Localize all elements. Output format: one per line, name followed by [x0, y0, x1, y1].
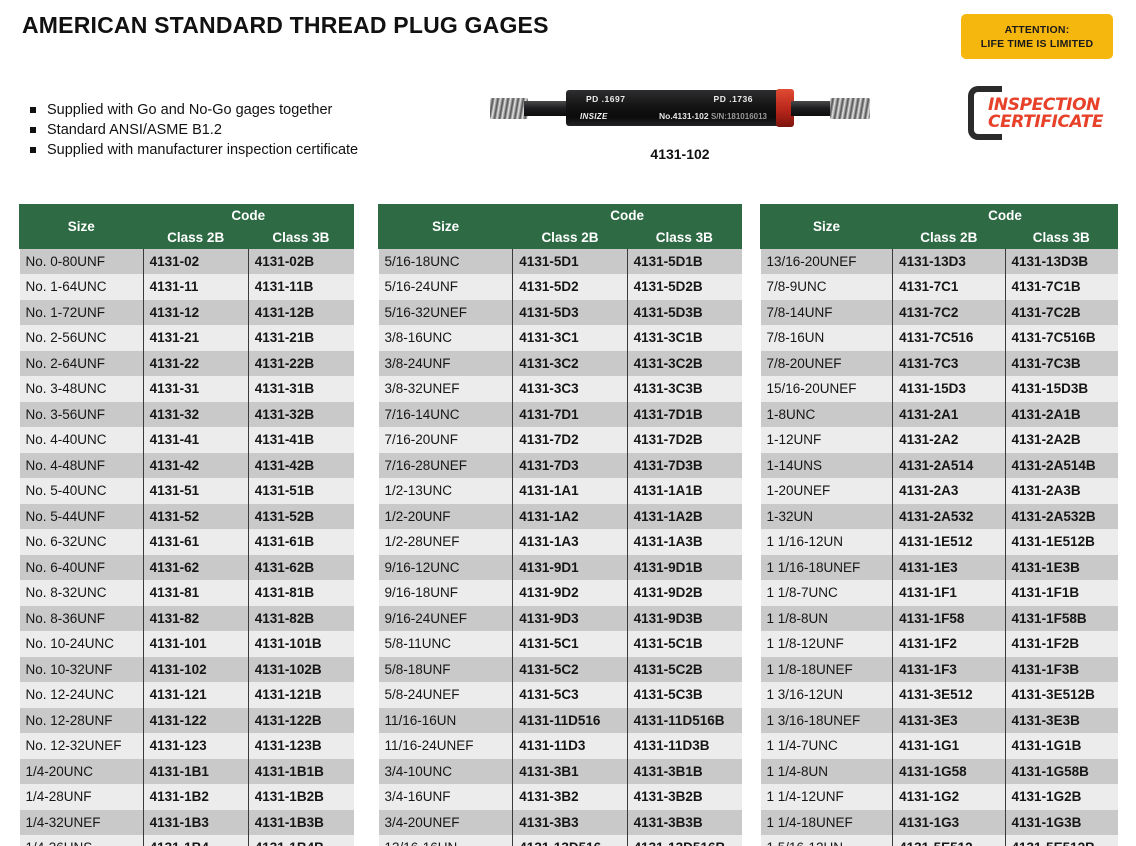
page-title: AMERICAN STANDARD THREAD PLUG GAGES [22, 12, 549, 39]
certificate-logo-text: INSPECTION CERTIFICATE [988, 97, 1103, 131]
cell-class-2b: 4131-1A3 [513, 529, 627, 555]
cell-size: No. 2-56UNC [20, 325, 144, 351]
table-row: 1-14UNS4131-2A5144131-2A514B [761, 453, 1118, 479]
cell-size: No. 3-56UNF [20, 402, 144, 428]
cell-class-3b: 4131-82B [248, 606, 353, 632]
column-header-class-3b: Class 3B [1005, 227, 1117, 249]
table-row: 1/2-13UNC4131-1A14131-1A1B [379, 478, 742, 504]
cell-class-3b: 4131-5C2B [627, 657, 741, 683]
table-row: 13/16-20UNEF4131-13D34131-13D3B [761, 249, 1118, 275]
gage-body: PD .1697 PD .1736 INSIZE No.4131-102 S/N… [566, 90, 781, 126]
table-row: 1/2-20UNF4131-1A24131-1A2B [379, 504, 742, 530]
cell-class-2b: 4131-9D3 [513, 606, 627, 632]
cell-size: 5/16-18UNC [379, 249, 513, 275]
cell-size: No. 12-24UNC [20, 682, 144, 708]
table-row: 9/16-24UNEF4131-9D34131-9D3B [379, 606, 742, 632]
table-row: 7/8-9UNC4131-7C14131-7C1B [761, 274, 1118, 300]
thread-right-icon [830, 98, 870, 119]
cell-class-3b: 4131-2A3B [1005, 478, 1117, 504]
column-header-class-2b: Class 2B [143, 227, 248, 249]
product-caption: 4131-102 [480, 146, 880, 162]
cell-class-3b: 4131-7C3B [1005, 351, 1117, 377]
column-header-size: Size [761, 205, 893, 249]
cell-class-3b: 4131-1A2B [627, 504, 741, 530]
cell-size: 3/8-16UNC [379, 325, 513, 351]
table-row: No. 10-24UNC4131-1014131-101B [20, 631, 354, 657]
cell-size: 1 1/8-12UNF [761, 631, 893, 657]
column-header-code: Code [513, 205, 742, 227]
cell-class-3b: 4131-9D1B [627, 555, 741, 581]
cell-class-2b: 4131-2A3 [893, 478, 1005, 504]
cell-class-2b: 4131-5C3 [513, 682, 627, 708]
cell-class-3b: 4131-3E512B [1005, 682, 1117, 708]
cell-class-3b: 4131-2A2B [1005, 427, 1117, 453]
cell-class-2b: 4131-15D3 [893, 376, 1005, 402]
cell-size: 1-14UNS [761, 453, 893, 479]
table-row: No. 12-24UNC4131-1214131-121B [20, 682, 354, 708]
cell-size: 1 1/8-7UNC [761, 580, 893, 606]
table-row: 1 1/8-8UN4131-1F584131-1F58B [761, 606, 1118, 632]
cell-class-2b: 4131-5E512 [893, 835, 1005, 846]
cell-class-3b: 4131-121B [248, 682, 353, 708]
list-item: Standard ANSI/ASME B1.2 [30, 120, 358, 140]
table-row: No. 12-32UNEF4131-1234131-123B [20, 733, 354, 759]
cell-size: 7/16-28UNEF [379, 453, 513, 479]
table-row: 1 1/16-12UN4131-1E5124131-1E512B [761, 529, 1118, 555]
cell-size: 3/8-24UNF [379, 351, 513, 377]
cell-class-3b: 4131-1B4B [248, 835, 353, 846]
table-row: No. 6-40UNF4131-624131-62B [20, 555, 354, 581]
cell-class-3b: 4131-1G58B [1005, 759, 1117, 785]
cell-class-3b: 4131-51B [248, 478, 353, 504]
cell-class-2b: 4131-81 [143, 580, 248, 606]
table-row: 9/16-12UNC4131-9D14131-9D1B [379, 555, 742, 581]
cell-size: 1-8UNC [761, 402, 893, 428]
table-row: 5/8-18UNF4131-5C24131-5C2B [379, 657, 742, 683]
cell-size: 1 1/8-18UNEF [761, 657, 893, 683]
table-row: 1/2-28UNEF4131-1A34131-1A3B [379, 529, 742, 555]
cell-class-3b: 4131-52B [248, 504, 353, 530]
column-header-class-2b: Class 2B [893, 227, 1005, 249]
column-header-class-3b: Class 3B [627, 227, 741, 249]
cell-class-2b: 4131-2A1 [893, 402, 1005, 428]
cell-class-3b: 4131-5C1B [627, 631, 741, 657]
cell-size: No. 0-80UNF [20, 249, 144, 275]
cell-class-2b: 4131-12 [143, 300, 248, 326]
cell-class-2b: 4131-122 [143, 708, 248, 734]
cell-size: 1/4-28UNF [20, 784, 144, 810]
cell-size: No. 6-32UNC [20, 529, 144, 555]
cell-size: 3/4-10UNC [379, 759, 513, 785]
cell-class-3b: 4131-42B [248, 453, 353, 479]
cell-class-3b: 4131-13D516B [627, 835, 741, 846]
cell-size: No. 1-72UNF [20, 300, 144, 326]
cell-class-3b: 4131-3B1B [627, 759, 741, 785]
table-row: No. 4-40UNC4131-414131-41B [20, 427, 354, 453]
cell-size: No. 12-32UNEF [20, 733, 144, 759]
cell-class-2b: 4131-3C1 [513, 325, 627, 351]
table-row: No. 1-72UNF4131-124131-12B [20, 300, 354, 326]
cell-size: No. 5-44UNF [20, 504, 144, 530]
cell-class-2b: 4131-1G2 [893, 784, 1005, 810]
table-row: No. 8-36UNF4131-824131-82B [20, 606, 354, 632]
cell-size: 1-12UNF [761, 427, 893, 453]
feature-text: Standard ANSI/ASME B1.2 [47, 122, 222, 138]
table-body: 5/16-18UNC4131-5D14131-5D1B5/16-24UNF413… [379, 249, 742, 846]
table-row: 1/4-28UNF4131-1B24131-1B2B [20, 784, 354, 810]
table-row: 3/4-20UNEF4131-3B34131-3B3B [379, 810, 742, 836]
cell-class-2b: 4131-1B1 [143, 759, 248, 785]
cell-class-3b: 4131-5D2B [627, 274, 741, 300]
table-row: 7/16-28UNEF4131-7D34131-7D3B [379, 453, 742, 479]
column-header-class-3b: Class 3B [248, 227, 353, 249]
cell-class-2b: 4131-101 [143, 631, 248, 657]
cell-class-3b: 4131-1F58B [1005, 606, 1117, 632]
cell-class-2b: 4131-102 [143, 657, 248, 683]
table-row: 3/4-10UNC4131-3B14131-3B1B [379, 759, 742, 785]
table-row: 5/16-32UNEF4131-5D34131-5D3B [379, 300, 742, 326]
cell-size: 5/16-24UNF [379, 274, 513, 300]
cell-size: 1 1/4-7UNC [761, 733, 893, 759]
table-row: 1 1/16-18UNEF4131-1E34131-1E3B [761, 555, 1118, 581]
cell-class-2b: 4131-7D2 [513, 427, 627, 453]
cell-class-3b: 4131-7D1B [627, 402, 741, 428]
cell-class-2b: 4131-3B2 [513, 784, 627, 810]
cell-class-3b: 4131-7C1B [1005, 274, 1117, 300]
cell-class-2b: 4131-41 [143, 427, 248, 453]
cell-class-3b: 4131-7C2B [1005, 300, 1117, 326]
shank-right [791, 101, 833, 116]
cell-class-3b: 4131-7C516B [1005, 325, 1117, 351]
cell-class-3b: 4131-21B [248, 325, 353, 351]
table-row: No. 10-32UNF4131-1024131-102B [20, 657, 354, 683]
cell-size: 11/16-16UN [379, 708, 513, 734]
cell-class-3b: 4131-123B [248, 733, 353, 759]
thread-left-icon [490, 98, 528, 119]
cell-class-3b: 4131-1G3B [1005, 810, 1117, 836]
cell-class-3b: 4131-22B [248, 351, 353, 377]
feature-list: Supplied with Go and No-Go gages togethe… [30, 100, 358, 160]
serial-label: S/N:181016013 [711, 112, 767, 121]
cell-class-3b: 4131-2A532B [1005, 504, 1117, 530]
cell-class-2b: 4131-1F3 [893, 657, 1005, 683]
cell-size: 1-32UN [761, 504, 893, 530]
cell-size: 5/8-18UNF [379, 657, 513, 683]
cell-size: 5/8-24UNEF [379, 682, 513, 708]
table-row: No. 5-40UNC4131-514131-51B [20, 478, 354, 504]
table-row: 3/8-24UNF4131-3C24131-3C2B [379, 351, 742, 377]
table-row: 1 5/16-12UN4131-5E5124131-5E512B [761, 835, 1118, 846]
cell-class-2b: 4131-9D1 [513, 555, 627, 581]
feature-text: Supplied with Go and No-Go gages togethe… [47, 102, 332, 118]
cell-class-2b: 4131-7D1 [513, 402, 627, 428]
catalog-page: AMERICAN STANDARD THREAD PLUG GAGES Supp… [0, 0, 1136, 846]
cell-class-3b: 4131-3C2B [627, 351, 741, 377]
cell-class-3b: 4131-13D3B [1005, 249, 1117, 275]
cell-class-3b: 4131-12B [248, 300, 353, 326]
table-row: 1-8UNC4131-2A14131-2A1B [761, 402, 1118, 428]
table-row: 1 1/4-12UNF4131-1G24131-1G2B [761, 784, 1118, 810]
cell-class-2b: 4131-22 [143, 351, 248, 377]
cell-class-2b: 4131-3B1 [513, 759, 627, 785]
table-row: 15/16-20UNEF4131-15D34131-15D3B [761, 376, 1118, 402]
cell-class-2b: 4131-62 [143, 555, 248, 581]
cell-class-3b: 4131-1E512B [1005, 529, 1117, 555]
cell-class-2b: 4131-02 [143, 249, 248, 275]
cell-size: 1 1/4-12UNF [761, 784, 893, 810]
table-row: No. 6-32UNC4131-614131-61B [20, 529, 354, 555]
cell-class-3b: 4131-5D1B [627, 249, 741, 275]
cell-class-2b: 4131-3C2 [513, 351, 627, 377]
column-header-class-2b: Class 2B [513, 227, 627, 249]
cell-class-3b: 4131-5D3B [627, 300, 741, 326]
cell-class-3b: 4131-2A514B [1005, 453, 1117, 479]
cell-class-2b: 4131-7C1 [893, 274, 1005, 300]
cell-class-2b: 4131-13D516 [513, 835, 627, 846]
cell-size: 5/8-11UNC [379, 631, 513, 657]
cell-class-3b: 4131-3C1B [627, 325, 741, 351]
cell-class-3b: 4131-7D3B [627, 453, 741, 479]
cell-size: 1/4-32UNEF [20, 810, 144, 836]
cell-size: 1 1/4-8UN [761, 759, 893, 785]
cell-size: 7/8-16UN [761, 325, 893, 351]
cell-class-3b: 4131-7D2B [627, 427, 741, 453]
product-photo: PD .1697 PD .1736 INSIZE No.4131-102 S/N… [480, 78, 880, 140]
cell-size: 7/16-20UNF [379, 427, 513, 453]
table-row: No. 2-64UNF4131-224131-22B [20, 351, 354, 377]
table-row: No. 5-44UNF4131-524131-52B [20, 504, 354, 530]
cell-class-2b: 4131-1E512 [893, 529, 1005, 555]
cell-class-3b: 4131-11B [248, 274, 353, 300]
table-row: 5/16-24UNF4131-5D24131-5D2B [379, 274, 742, 300]
column-header-size: Size [379, 205, 513, 249]
table-row: 1-12UNF4131-2A24131-2A2B [761, 427, 1118, 453]
attention-badge: ATTENTION: LIFE TIME IS LIMITED [961, 14, 1113, 59]
table-row: No. 3-56UNF4131-324131-32B [20, 402, 354, 428]
table-row: 1 1/8-12UNF4131-1F24131-1F2B [761, 631, 1118, 657]
feature-text: Supplied with manufacturer inspection ce… [47, 142, 358, 158]
cell-size: 1-20UNEF [761, 478, 893, 504]
table-row: 1 1/8-7UNC4131-1F14131-1F1B [761, 580, 1118, 606]
cell-class-3b: 4131-1B3B [248, 810, 353, 836]
cell-class-2b: 4131-1G58 [893, 759, 1005, 785]
table-row: 1-32UN4131-2A5324131-2A532B [761, 504, 1118, 530]
table-row: 11/16-16UN4131-11D5164131-11D516B [379, 708, 742, 734]
cell-size: 3/4-16UNF [379, 784, 513, 810]
part-number-label: No.4131-102 [659, 111, 709, 121]
cell-size: 7/16-14UNC [379, 402, 513, 428]
cell-class-2b: 4131-5C2 [513, 657, 627, 683]
cell-class-3b: 4131-3B2B [627, 784, 741, 810]
certificate-logo-line2: CERTIFICATE [988, 114, 1103, 131]
cell-class-2b: 4131-5C1 [513, 631, 627, 657]
cell-class-3b: 4131-31B [248, 376, 353, 402]
cell-class-3b: 4131-1G1B [1005, 733, 1117, 759]
cell-size: No. 2-64UNF [20, 351, 144, 377]
cell-class-2b: 4131-1B2 [143, 784, 248, 810]
cell-size: 9/16-12UNC [379, 555, 513, 581]
cell-class-2b: 4131-3E512 [893, 682, 1005, 708]
cell-size: 3/8-32UNEF [379, 376, 513, 402]
cell-size: No. 8-36UNF [20, 606, 144, 632]
inspection-certificate-logo: INSPECTION CERTIFICATE [965, 84, 1115, 146]
table-row: No. 12-28UNF4131-1224131-122B [20, 708, 354, 734]
cell-class-2b: 4131-32 [143, 402, 248, 428]
cell-class-2b: 4131-123 [143, 733, 248, 759]
cell-class-3b: 4131-1E3B [1005, 555, 1117, 581]
cell-size: 1 3/16-12UN [761, 682, 893, 708]
cell-class-3b: 4131-1G2B [1005, 784, 1117, 810]
cell-class-2b: 4131-61 [143, 529, 248, 555]
cell-class-3b: 4131-5E512B [1005, 835, 1117, 846]
cell-size: 1/2-13UNC [379, 478, 513, 504]
attention-badge-line1: ATTENTION: [1005, 23, 1070, 37]
gage-code-table: Size Code Class 2B Class 3B No. 0-80UNF4… [19, 204, 354, 846]
cell-size: No. 5-40UNC [20, 478, 144, 504]
list-item: Supplied with manufacturer inspection ce… [30, 140, 358, 160]
cell-class-3b: 4131-02B [248, 249, 353, 275]
cell-size: 1 1/16-18UNEF [761, 555, 893, 581]
table-row: 7/8-20UNEF4131-7C34131-7C3B [761, 351, 1118, 377]
cell-class-2b: 4131-1G3 [893, 810, 1005, 836]
cell-class-3b: 4131-15D3B [1005, 376, 1117, 402]
cell-size: 1 5/16-12UN [761, 835, 893, 846]
cell-class-2b: 4131-7C516 [893, 325, 1005, 351]
cell-class-2b: 4131-51 [143, 478, 248, 504]
cell-size: 1 3/16-18UNEF [761, 708, 893, 734]
cell-class-3b: 4131-11D3B [627, 733, 741, 759]
table-row: No. 8-32UNC4131-814131-81B [20, 580, 354, 606]
table-row: 1 1/4-18UNEF4131-1G34131-1G3B [761, 810, 1118, 836]
cell-class-3b: 4131-102B [248, 657, 353, 683]
cell-size: 1/4-20UNC [20, 759, 144, 785]
cell-class-3b: 4131-41B [248, 427, 353, 453]
table-row: 1/4-20UNC4131-1B14131-1B1B [20, 759, 354, 785]
cell-class-2b: 4131-7D3 [513, 453, 627, 479]
list-item: Supplied with Go and No-Go gages togethe… [30, 100, 358, 120]
gage-code-table: Size Code Class 2B Class 3B 13/16-20UNEF… [760, 204, 1118, 846]
cell-class-2b: 4131-1E3 [893, 555, 1005, 581]
square-bullet-icon [30, 107, 36, 113]
cell-class-2b: 4131-1B3 [143, 810, 248, 836]
cell-class-2b: 4131-3E3 [893, 708, 1005, 734]
cell-class-3b: 4131-3C3B [627, 376, 741, 402]
square-bullet-icon [30, 127, 36, 133]
brand-label: INSIZE [580, 112, 608, 121]
cell-class-3b: 4131-2A1B [1005, 402, 1117, 428]
cell-class-3b: 4131-1B1B [248, 759, 353, 785]
pd-left-label: PD .1697 [586, 94, 625, 104]
column-header-code: Code [143, 205, 353, 227]
cell-class-2b: 4131-2A514 [893, 453, 1005, 479]
cell-size: 15/16-20UNEF [761, 376, 893, 402]
cell-class-3b: 4131-101B [248, 631, 353, 657]
cell-class-2b: 4131-82 [143, 606, 248, 632]
cell-class-3b: 4131-9D2B [627, 580, 741, 606]
table-row: 3/8-32UNEF4131-3C34131-3C3B [379, 376, 742, 402]
cell-size: 9/16-24UNEF [379, 606, 513, 632]
column-header-code: Code [893, 205, 1118, 227]
table-row: No. 1-64UNC4131-114131-11B [20, 274, 354, 300]
cell-class-2b: 4131-2A2 [893, 427, 1005, 453]
shank-left [524, 101, 570, 116]
cell-class-2b: 4131-1G1 [893, 733, 1005, 759]
table-row: 7/16-20UNF4131-7D24131-7D2B [379, 427, 742, 453]
square-bullet-icon [30, 147, 36, 153]
cell-class-2b: 4131-1F1 [893, 580, 1005, 606]
cell-size: 9/16-18UNF [379, 580, 513, 606]
cell-class-3b: 4131-122B [248, 708, 353, 734]
table-body: 13/16-20UNEF4131-13D34131-13D3B7/8-9UNC4… [761, 249, 1118, 846]
cell-size: 7/8-20UNEF [761, 351, 893, 377]
cell-size: No. 1-64UNC [20, 274, 144, 300]
pd-right-label: PD .1736 [714, 94, 753, 104]
table-row: 1/4-32UNEF4131-1B34131-1B3B [20, 810, 354, 836]
table-row: 3/4-16UNF4131-3B24131-3B2B [379, 784, 742, 810]
table-row: 1 3/16-18UNEF4131-3E34131-3E3B [761, 708, 1118, 734]
cell-size: No. 8-32UNC [20, 580, 144, 606]
cell-size: 7/8-9UNC [761, 274, 893, 300]
cell-class-2b: 4131-1F58 [893, 606, 1005, 632]
cell-class-2b: 4131-21 [143, 325, 248, 351]
cell-class-2b: 4131-1A2 [513, 504, 627, 530]
cell-class-3b: 4131-1B2B [248, 784, 353, 810]
cell-class-3b: 4131-1A3B [627, 529, 741, 555]
cell-class-2b: 4131-9D2 [513, 580, 627, 606]
table-row: No. 0-80UNF4131-024131-02B [20, 249, 354, 275]
table-row: 7/8-16UN4131-7C5164131-7C516B [761, 325, 1118, 351]
cell-size: 1 1/8-8UN [761, 606, 893, 632]
table-row: 7/16-14UNC4131-7D14131-7D1B [379, 402, 742, 428]
cell-class-3b: 4131-62B [248, 555, 353, 581]
cell-class-2b: 4131-5D3 [513, 300, 627, 326]
cell-size: 3/4-20UNEF [379, 810, 513, 836]
cell-class-2b: 4131-42 [143, 453, 248, 479]
cell-class-3b: 4131-1A1B [627, 478, 741, 504]
cell-class-3b: 4131-81B [248, 580, 353, 606]
cell-class-2b: 4131-7C2 [893, 300, 1005, 326]
cell-class-2b: 4131-121 [143, 682, 248, 708]
table-row: 3/8-16UNC4131-3C14131-3C1B [379, 325, 742, 351]
table-row: 1 1/4-7UNC4131-1G14131-1G1B [761, 733, 1118, 759]
cell-class-2b: 4131-1A1 [513, 478, 627, 504]
cell-class-3b: 4131-11D516B [627, 708, 741, 734]
cell-size: 1/4-36UNS [20, 835, 144, 846]
cell-size: 1/2-20UNF [379, 504, 513, 530]
table-row: 1/4-36UNS4131-1B44131-1B4B [20, 835, 354, 846]
table-row: No. 4-48UNF4131-424131-42B [20, 453, 354, 479]
table-row: 1 1/4-8UN4131-1G584131-1G58B [761, 759, 1118, 785]
cell-class-2b: 4131-1B4 [143, 835, 248, 846]
table-row: No. 3-48UNC4131-314131-31B [20, 376, 354, 402]
cell-class-3b: 4131-1F1B [1005, 580, 1117, 606]
cell-class-2b: 4131-3B3 [513, 810, 627, 836]
cell-class-2b: 4131-11 [143, 274, 248, 300]
cell-class-3b: 4131-1F2B [1005, 631, 1117, 657]
attention-badge-line2: LIFE TIME IS LIMITED [981, 37, 1094, 51]
gage-code-table: Size Code Class 2B Class 3B 5/16-18UNC41… [378, 204, 742, 846]
cell-size: No. 10-32UNF [20, 657, 144, 683]
cell-class-3b: 4131-1F3B [1005, 657, 1117, 683]
cell-size: 13/16-16UN [379, 835, 513, 846]
cell-class-2b: 4131-13D3 [893, 249, 1005, 275]
cell-size: 13/16-20UNEF [761, 249, 893, 275]
table-row: 7/8-14UNF4131-7C24131-7C2B [761, 300, 1118, 326]
table-row: 5/8-24UNEF4131-5C34131-5C3B [379, 682, 742, 708]
cell-class-2b: 4131-31 [143, 376, 248, 402]
cell-size: 11/16-24UNEF [379, 733, 513, 759]
cell-class-3b: 4131-32B [248, 402, 353, 428]
